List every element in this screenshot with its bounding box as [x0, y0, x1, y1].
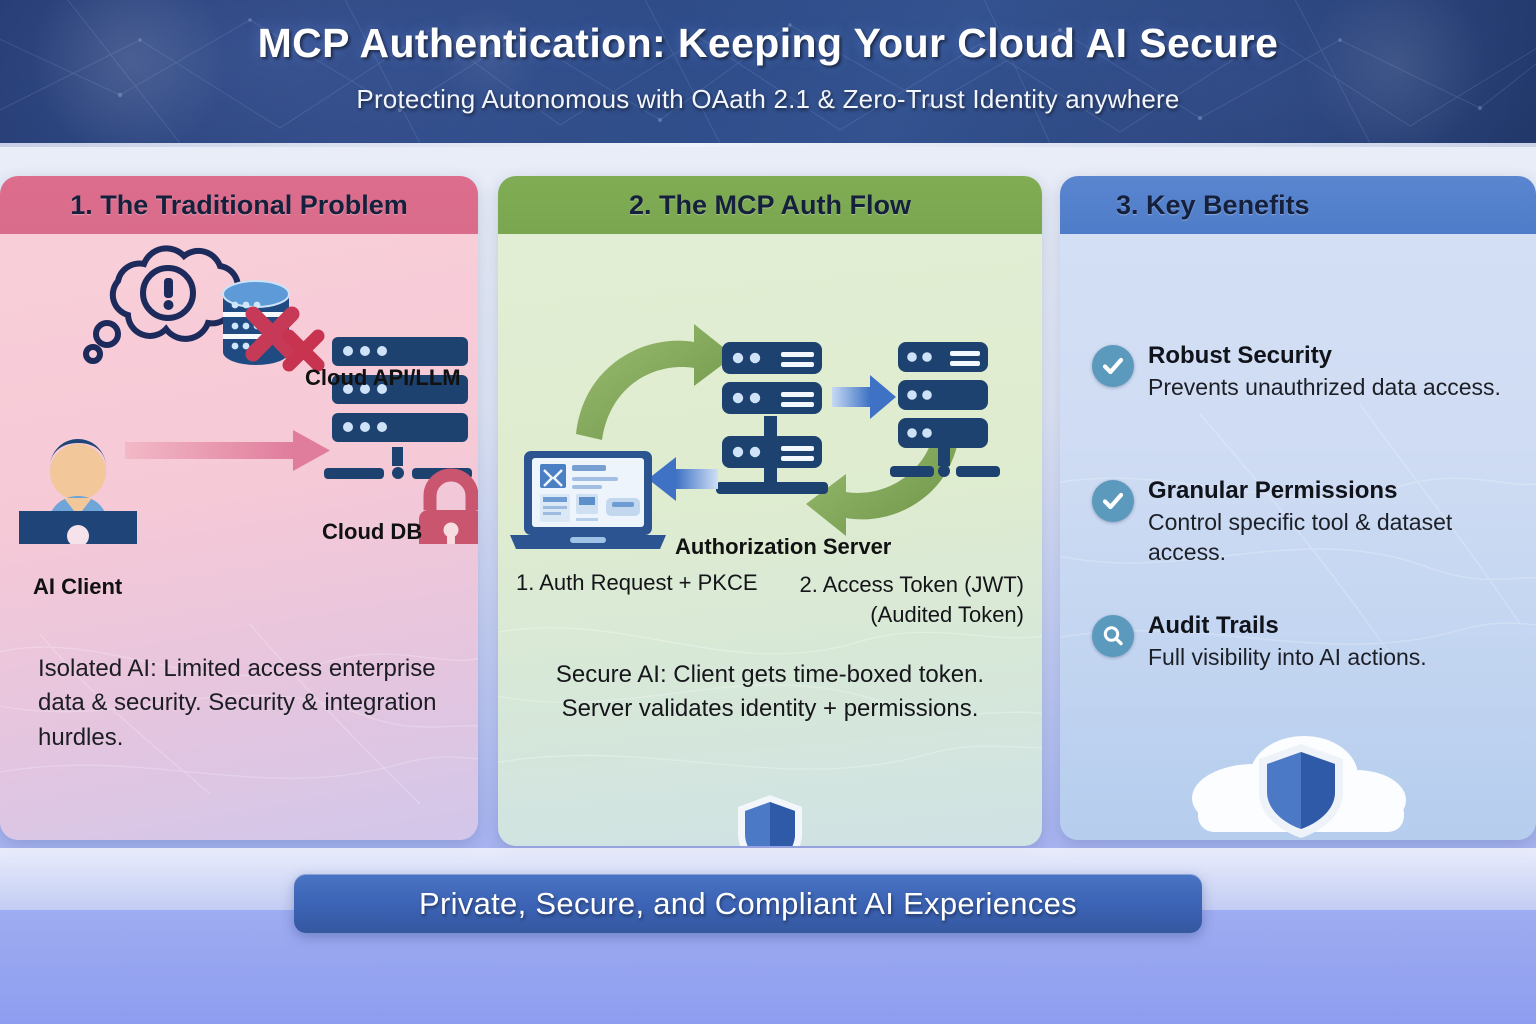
header-divider: [0, 143, 1536, 147]
panel1-label-cloud-api: Cloud API/LLM: [305, 365, 461, 391]
panel1-body: Cloud API/LLM Cloud DB AI Client Isolate…: [0, 234, 478, 840]
panel3-body: Robust Security Prevents unauthrized dat…: [1060, 234, 1536, 840]
benefit-desc: Full visibility into AI actions.: [1148, 643, 1512, 672]
padlock-icon: [419, 475, 478, 544]
benefit-item[interactable]: Robust Security Prevents unauthrized dat…: [1092, 342, 1512, 403]
benefit-item[interactable]: Granular Permissions Control specific to…: [1092, 477, 1512, 567]
panel2-step-2-line1: 2. Access Token (JWT): [774, 570, 1024, 600]
panel2-step-1: 1. Auth Request + PKCE: [516, 570, 758, 596]
panel1-heading: 1. The Traditional Problem: [0, 176, 478, 234]
green-curved-arrow-icon: [576, 324, 734, 440]
page-subtitle: Protecting Autonomous with OAath 2.1 & Z…: [0, 84, 1536, 115]
panel2-heading: 2. The MCP Auth Flow: [498, 176, 1042, 234]
panel2-caption: Secure AI: Client gets time-boxed token.…: [550, 658, 990, 726]
footer-banner[interactable]: Private, Secure, and Compliant AI Experi…: [294, 874, 1202, 933]
benefit-title: Granular Permissions: [1148, 477, 1512, 505]
panel2-step-2-line2: (Audited Token): [774, 600, 1024, 630]
benefit-desc: Control specific tool & dataset access.: [1148, 508, 1512, 567]
page-title: MCP Authentication: Keeping Your Cloud A…: [0, 20, 1536, 67]
panel1-caption: Isolated AI: Limited access enterprise d…: [38, 652, 438, 755]
laptop-icon: [510, 451, 666, 549]
server-stack-icon: [716, 342, 828, 494]
check-circle-icon: [1092, 480, 1134, 522]
resource-server-icon: [890, 342, 1000, 477]
shield-icon: [734, 792, 806, 846]
panel2-illustration: [498, 234, 1042, 564]
benefit-item[interactable]: Audit Trails Full visibility into AI act…: [1092, 612, 1512, 673]
page-header: MCP Authentication: Keeping Your Cloud A…: [0, 0, 1536, 143]
panel1-label-ai-client: AI Client: [33, 574, 122, 600]
panel2-body: Authorization Server 1. Auth Request + P…: [498, 234, 1042, 846]
blue-arrow-icon: [832, 375, 896, 419]
blue-arrow-icon: [648, 457, 718, 501]
panel-traditional-problem[interactable]: 1. The Traditional Problem: [0, 176, 478, 840]
panel2-label-authorization-server: Authorization Server: [675, 534, 891, 560]
benefit-title: Audit Trails: [1148, 612, 1512, 640]
panel2-step-2: 2. Access Token (JWT) (Audited Token): [774, 570, 1024, 630]
footer-text: Private, Secure, and Compliant AI Experi…: [419, 886, 1077, 922]
alert-exclamation-icon: [143, 268, 193, 318]
pink-arrow-icon: [125, 430, 330, 471]
thought-bubble-alert-icon: [86, 248, 238, 361]
panel-mcp-auth-flow[interactable]: 2. The MCP Auth Flow: [498, 176, 1042, 846]
benefit-title: Robust Security: [1148, 342, 1512, 370]
panel-key-benefits[interactable]: 3. Key Benefits Robust Security Prevents…: [1060, 176, 1536, 840]
cloud-shield-icon: [1186, 726, 1416, 838]
panel3-heading: 3. Key Benefits: [1060, 176, 1536, 234]
benefit-desc: Prevents unauthrized data access.: [1148, 373, 1512, 402]
server-stack-icon: [324, 337, 472, 479]
magnifier-circle-icon: [1092, 615, 1134, 657]
panel1-label-cloud-db: Cloud DB: [322, 519, 422, 545]
check-circle-icon: [1092, 345, 1134, 387]
